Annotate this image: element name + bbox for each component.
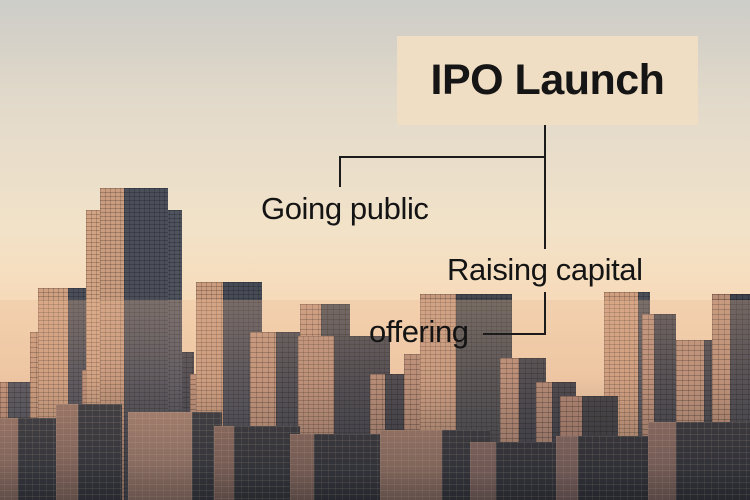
building <box>214 426 300 500</box>
screenshot-canvas: IPO Launch Going public Raising capital … <box>0 0 750 500</box>
building-lit-face <box>380 430 442 500</box>
building <box>56 404 122 500</box>
building-lit-face <box>128 412 192 500</box>
connector-cross-bar <box>339 156 546 158</box>
connector-stub-left <box>339 156 341 187</box>
branch-label-going-public: Going public <box>261 193 429 224</box>
building <box>128 412 222 500</box>
branch-label-raising-capital: Raising capital <box>447 254 643 285</box>
building <box>648 422 750 500</box>
building-shadow-face <box>676 422 750 500</box>
building-lit-face <box>556 436 578 500</box>
building-lit-face <box>648 422 676 500</box>
connector-trunk-low <box>544 292 546 335</box>
building-shadow-face <box>314 434 390 500</box>
connector-trunk-top <box>544 125 546 158</box>
building-shadow-face <box>78 404 122 500</box>
building <box>290 434 390 500</box>
building <box>0 418 64 500</box>
building <box>470 442 566 500</box>
building-lit-face <box>0 418 18 500</box>
page-title: IPO Launch <box>431 59 665 102</box>
title-box: IPO Launch <box>397 36 698 125</box>
building-lit-face <box>56 404 78 500</box>
connector-foot-bar <box>483 333 546 335</box>
branch-label-offering: offering <box>369 316 469 347</box>
building-lit-face <box>470 442 496 500</box>
connector-trunk-mid <box>544 156 546 249</box>
building <box>556 436 660 500</box>
building-lit-face <box>290 434 314 500</box>
building-lit-face <box>214 426 234 500</box>
